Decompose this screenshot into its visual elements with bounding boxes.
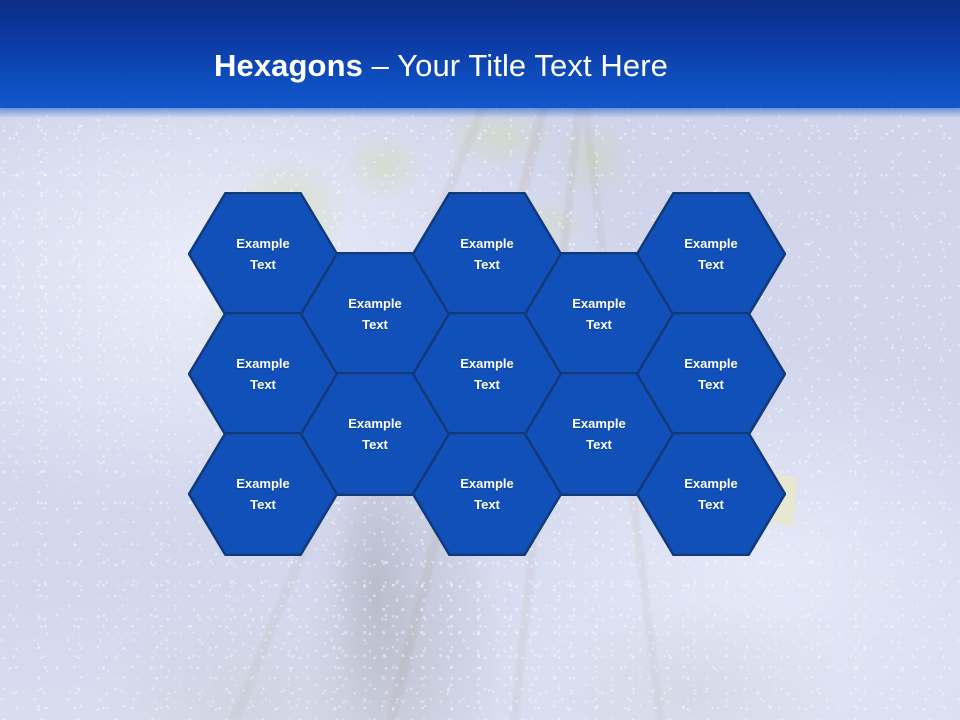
- hexagon-label: Example Text: [442, 233, 532, 275]
- hexagon-label: Example Text: [330, 413, 420, 455]
- hexagon-label: Example Text: [442, 473, 532, 515]
- hexagon-label: Example Text: [554, 293, 644, 335]
- hexagon-label: Example Text: [218, 233, 308, 275]
- hexagon-label: Example Text: [666, 473, 756, 515]
- hexagon-label: Example Text: [442, 353, 532, 395]
- hexagon-cluster: Example TextExample TextExample TextExam…: [0, 0, 960, 720]
- hexagon-label: Example Text: [330, 293, 420, 335]
- presentation-slide: Hexagons – Your Title Text Here Example …: [0, 0, 960, 720]
- hexagon-label: Example Text: [666, 233, 756, 275]
- hexagon-hex-c5-r3[interactable]: Example Text: [636, 432, 786, 556]
- hexagon-label: Example Text: [666, 353, 756, 395]
- hexagon-label: Example Text: [218, 353, 308, 395]
- hexagon-label: Example Text: [554, 413, 644, 455]
- hexagon-hex-c5-r2[interactable]: Example Text: [636, 312, 786, 436]
- hexagon-label: Example Text: [218, 473, 308, 515]
- hexagon-hex-c5-r1[interactable]: Example Text: [636, 192, 786, 316]
